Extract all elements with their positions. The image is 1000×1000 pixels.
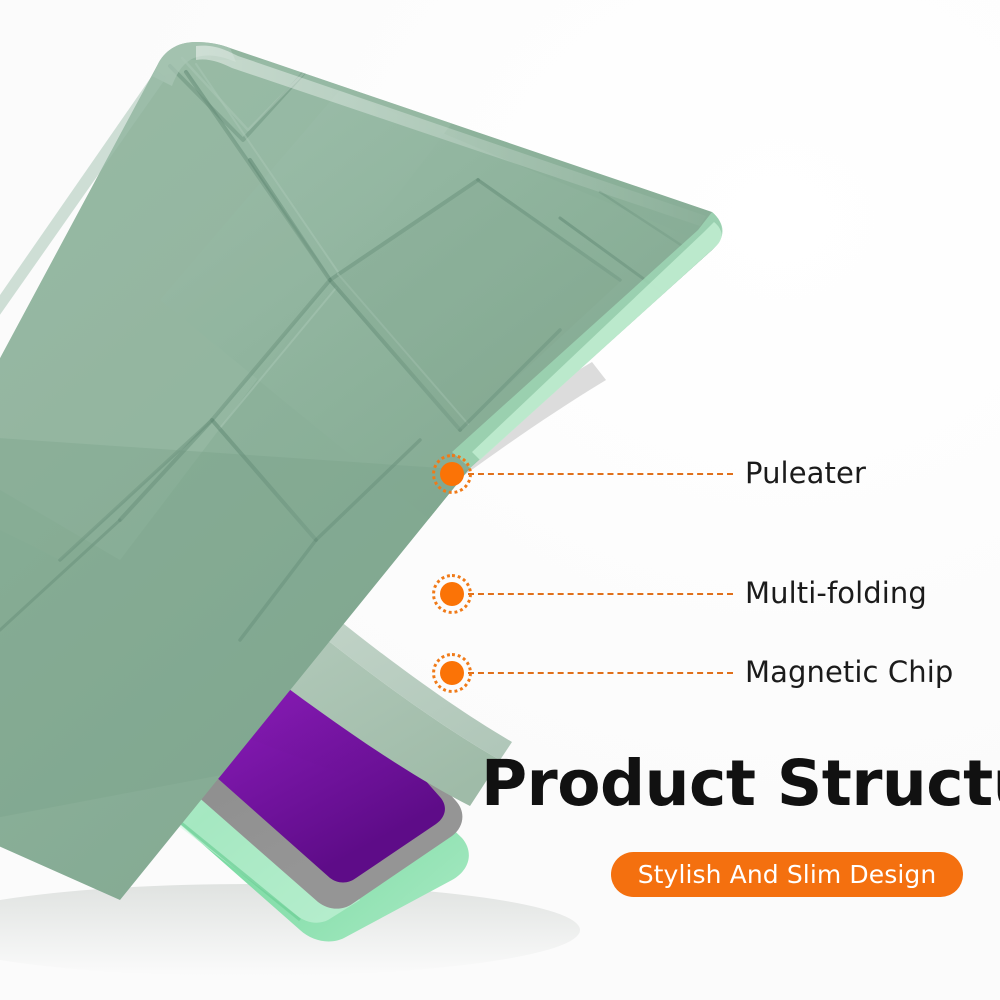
- product-illustration-group: [0, 0, 880, 1000]
- subtitle-badge: Stylish And Slim Design: [611, 852, 963, 897]
- page-title: Product Structure: [481, 752, 1000, 815]
- callout-label-magnetic-chip: Magnetic Chip: [745, 658, 953, 687]
- callout-leader-line: [468, 672, 733, 674]
- callout-label-puleater: Puleater: [745, 459, 866, 488]
- callout-leader-line: [468, 593, 733, 595]
- callout-dot-icon: [440, 582, 464, 606]
- tablet-case-product-image: [0, 0, 1000, 1000]
- callout-leader-line: [468, 473, 733, 475]
- product-infographic-page: Puleater Multi-folding Magnetic Chip Pro…: [0, 0, 1000, 1000]
- callout-dot-icon: [440, 462, 464, 486]
- callout-dot-icon: [440, 661, 464, 685]
- subtitle-badge-label: Stylish And Slim Design: [638, 862, 937, 887]
- callout-label-multi-folding: Multi-folding: [745, 579, 927, 608]
